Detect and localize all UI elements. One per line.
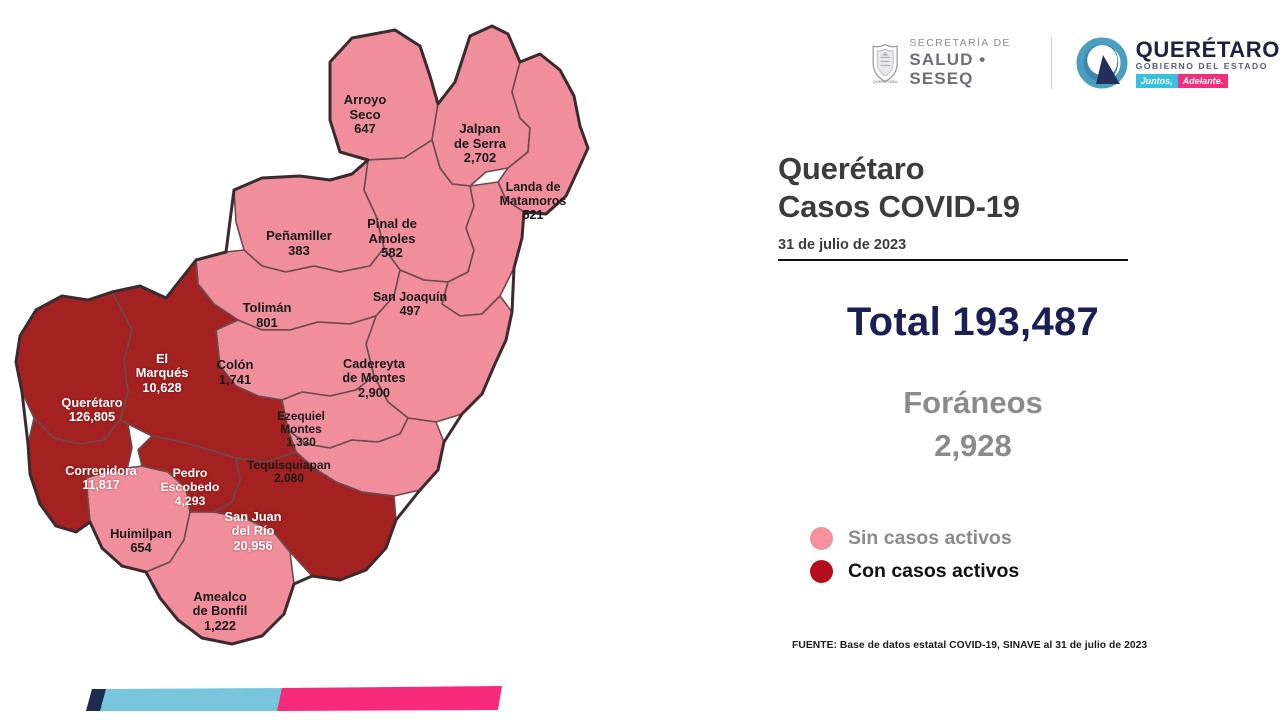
qro-tagline-part2: Adelante. <box>1178 74 1229 88</box>
legend-item-con-casos-activos[interactable]: Con casos activos <box>810 555 1019 588</box>
seseq-logo: QUERÉTARO SECRETARÍA DE SALUD • SESEQ <box>870 37 1027 89</box>
logo-row: QUERÉTARO SECRETARÍA DE SALUD • SESEQ QU… <box>870 28 1280 98</box>
qro-tagline-part1: Juntos, <box>1136 74 1178 88</box>
map-legend: Sin casos activos Con casos activos <box>810 522 1019 588</box>
legend-dot-inactive-icon <box>810 527 833 550</box>
queretaro-wordmark: QUERÉTARO GOBIERNO DEL ESTADO Juntos, Ad… <box>1136 38 1280 88</box>
logo-divider <box>1051 37 1052 89</box>
source-note: FUENTE: Base de datos estatal COVID-19, … <box>792 640 1252 651</box>
title-block: Querétaro Casos COVID-19 31 de julio de … <box>778 150 1158 261</box>
page-title-line1: Querétaro <box>778 150 1158 188</box>
queretaro-government-logo: QUERÉTARO GOBIERNO DEL ESTADO Juntos, Ad… <box>1076 37 1280 89</box>
ribbon-blue-segment <box>100 688 284 711</box>
legend-label-inactive: Sin casos activos <box>848 527 1012 550</box>
qro-subtitle: GOBIERNO DEL ESTADO <box>1136 62 1280 71</box>
ribbon-pink-segment <box>277 686 502 711</box>
bottom-ribbon <box>84 683 504 713</box>
title-rule <box>778 259 1128 262</box>
queretaro-map <box>0 0 760 700</box>
info-panel: QUERÉTARO SECRETARÍA DE SALUD • SESEQ QU… <box>760 0 1280 720</box>
legend-dot-active-icon <box>810 560 833 583</box>
legend-item-sin-casos-activos[interactable]: Sin casos activos <box>810 522 1019 555</box>
page-title-line2: Casos COVID-19 <box>778 188 1158 226</box>
queretaro-q-mark-icon <box>1076 37 1128 89</box>
map-panel: Arroyo Seco 647 Jalpan de Serra 2,702 La… <box>0 0 760 720</box>
legend-label-active: Con casos activos <box>848 560 1019 583</box>
seseq-wordmark: SECRETARÍA DE SALUD • SESEQ <box>909 38 1026 88</box>
crest-caption: QUERÉTARO <box>873 79 898 84</box>
queretaro-crest-icon: QUERÉTARO <box>870 37 900 89</box>
foraneos-value: 2,928 <box>778 428 1168 464</box>
seseq-line2: SALUD • SESEQ <box>909 50 1026 88</box>
report-date: 31 de julio de 2023 <box>778 237 1158 253</box>
total-cases: Total 193,487 <box>778 300 1168 345</box>
foraneos-label: Foráneos <box>778 385 1168 421</box>
qro-tagline: Juntos, Adelante. <box>1136 74 1280 88</box>
qro-name: QUERÉTARO <box>1136 38 1280 61</box>
infographic-root: Arroyo Seco 647 Jalpan de Serra 2,702 La… <box>0 0 1280 720</box>
seseq-line1: SECRETARÍA DE <box>909 38 1026 50</box>
